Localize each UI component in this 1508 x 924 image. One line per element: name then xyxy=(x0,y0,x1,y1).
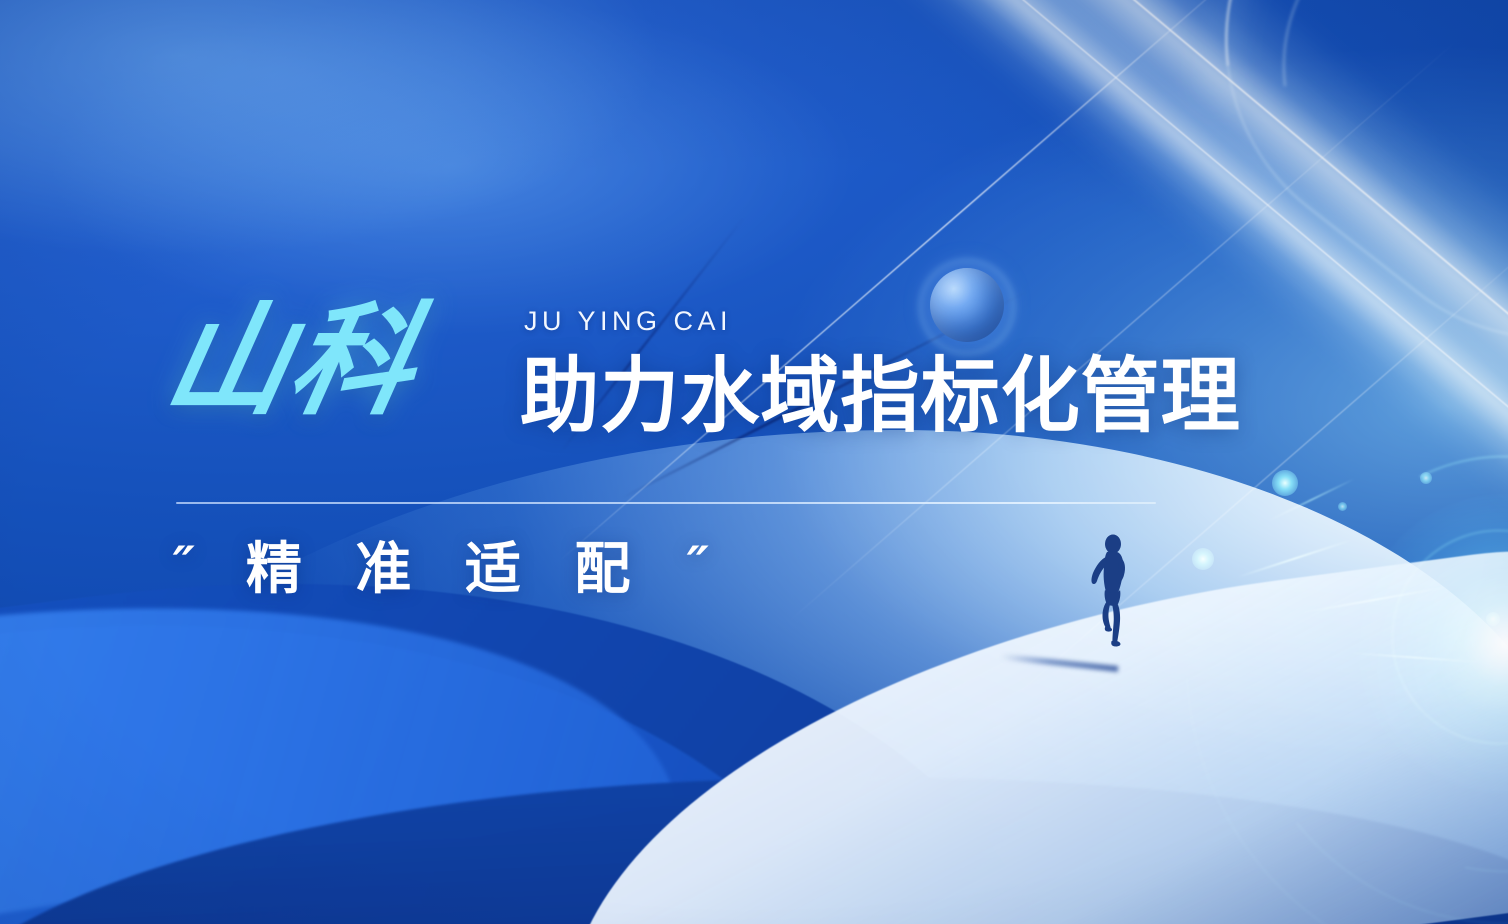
brand-title: 山科 xyxy=(156,300,428,422)
brand-pinyin: JU YING CAI xyxy=(524,306,732,337)
headline-divider xyxy=(176,502,1156,504)
tagline-open-quote: ″ xyxy=(166,540,214,590)
banner-canvas: 山科 JU YING CAI 助力水域指标化管理 ″ 精 准 适 配 ″ xyxy=(0,0,1508,924)
tagline-text: 精 准 适 配 xyxy=(246,537,648,602)
banner-content: 山科 JU YING CAI 助力水域指标化管理 ″ 精 准 适 配 ″ xyxy=(0,0,1508,924)
tagline-close-quote: ″ xyxy=(679,540,727,590)
tagline: ″ 精 准 适 配 ″ xyxy=(170,540,723,598)
headline-title: 助力水域指标化管理 xyxy=(520,356,1241,438)
